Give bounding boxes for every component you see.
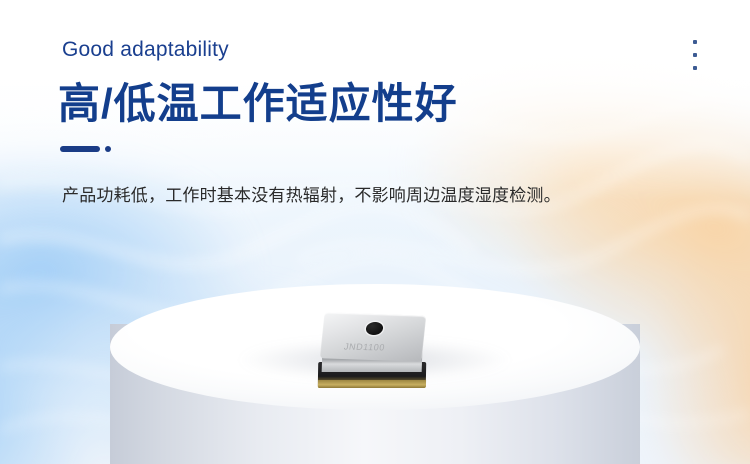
kebab-dot-3 [693,66,697,70]
page-title: 高/低温工作适应性好 [58,82,458,126]
sensor-chip: JND1100 [316,312,428,390]
title-underline-accent [60,146,111,152]
chip-model-label: JND1100 [343,341,386,352]
chip-pcb-gold-edge [318,380,426,388]
kebab-dot-2 [693,53,697,57]
accent-dot [105,146,111,152]
body-description: 产品功耗低，工作时基本没有热辐射，不影响周边温度湿度检测。 [62,182,582,210]
chip-top-surface [320,312,426,362]
kebab-dot-1 [693,40,697,44]
eyebrow-text: Good adaptability [62,38,229,62]
accent-bar [60,146,100,152]
product-feature-banner: JND1100 Good adaptability 高/低温工作适应性好 产品功… [0,0,750,464]
more-vertical-icon[interactable] [686,40,704,70]
